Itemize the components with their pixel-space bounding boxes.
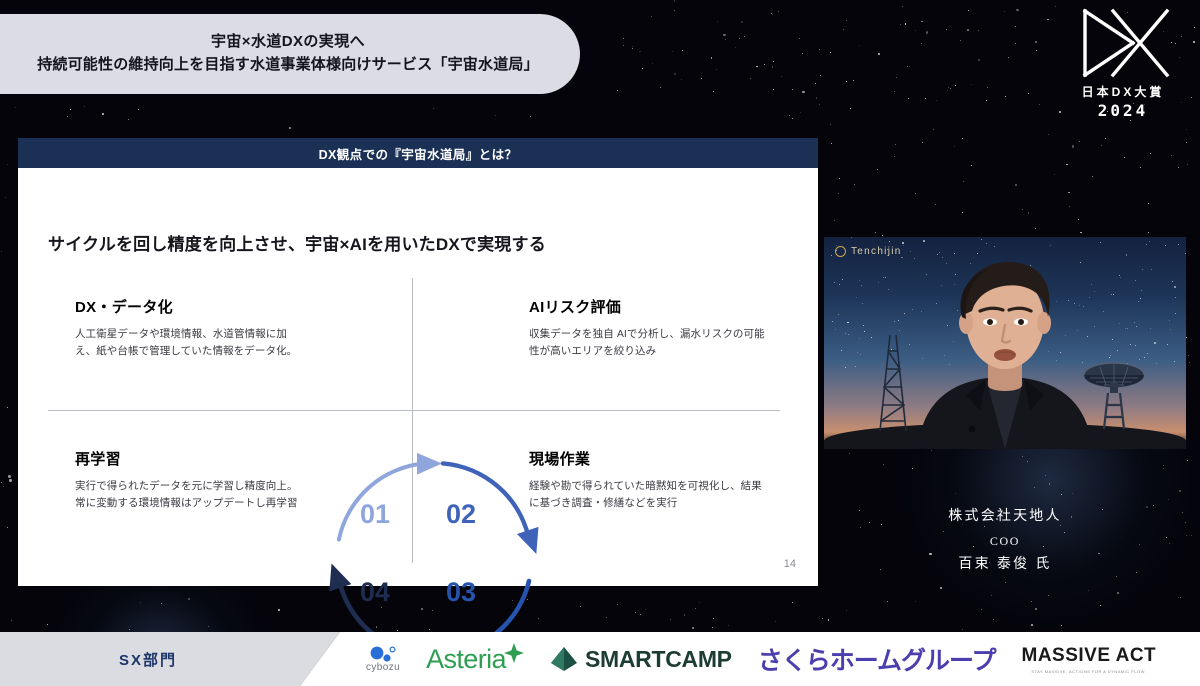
category-label: SX部門	[119, 649, 177, 670]
cycle-number-04: 04	[360, 577, 390, 608]
quadrant-02-body: 収集データを独自 AIで分析し、漏水リスクの可能性が高いエリアを絞り込み	[529, 326, 765, 360]
sponsor-logo-panel: cybozu Asteria SMARTCAMP さくらホームグループ MAS	[300, 632, 1200, 686]
quadrant-04: 再学習 実行で得られたデータを元に学習し精度向上。常に変動する環境情報はアップデ…	[75, 448, 303, 512]
asteria-wordmark: Asteria	[426, 644, 506, 675]
massive-act-tagline: STAY MASSIVE. ACTIONS FOR A DYNAMIC FLOW…	[1031, 669, 1146, 674]
tenchijin-watermark-text: Tenchijin	[851, 246, 902, 257]
sponsor-logo-massive-act: MASSIVE ACT STAY MASSIVE. ACTIONS FOR A …	[1022, 645, 1157, 674]
sponsor-logo-smartcamp: SMARTCAMP	[550, 646, 732, 673]
quadrant-03: 現場作業 経験や勘で得られていた暗黙知を可視化し、結果に基づき調査・修繕などを実…	[529, 448, 765, 512]
slide-header-bar: DX観点での『宇宙水道局』とは？	[18, 138, 818, 168]
presentation-title-banner: 宇宙×水道DXの実現へ 持続可能性の維持向上を目指す水道事業体様向けサービス「宇…	[0, 14, 580, 94]
broadcast-stage: 宇宙×水道DXの実現へ 持続可能性の維持向上を目指す水道事業体様向けサービス「宇…	[0, 0, 1200, 686]
banner-line-1: 宇宙×水道DXの実現へ	[211, 31, 365, 54]
speaker-role: COO	[824, 534, 1186, 549]
cycle-number-02: 02	[446, 499, 476, 530]
massive-act-wordmark: MASSIVE ACT	[1022, 645, 1157, 667]
cycle-number-01: 01	[360, 499, 390, 530]
category-panel: SX部門	[0, 632, 340, 686]
cybozu-mark-icon	[368, 645, 398, 663]
quadrant-01-body: 人工衛星データや環境情報、水道管情報に加え、紙や台帳で管理していた情報をデータ化…	[75, 326, 303, 360]
banner-line-2: 持続可能性の維持向上を目指す水道事業体様向けサービス「宇宙水道局」	[37, 53, 539, 77]
quadrant-02: AIリスク評価 収集データを独自 AIで分析し、漏水リスクの可能性が高いエリアを…	[529, 296, 765, 360]
speaker-name: 百束 泰俊 氏	[824, 553, 1186, 573]
quadrant-04-title: 再学習	[75, 448, 303, 469]
speaker-caption: 株式会社天地人 COO 百束 泰俊 氏	[824, 505, 1186, 573]
quadrant-02-title: AIリスク評価	[529, 296, 765, 317]
tenchijin-logo-icon	[835, 246, 846, 257]
slide-body: サイクルを回し精度を向上させ、宇宙×AIを用いたDXで実現する DX・データ化 …	[18, 168, 818, 586]
sakura-wordmark: さくらホームグループ	[758, 641, 996, 677]
quadrant-03-title: 現場作業	[529, 448, 765, 469]
award-logo-jp-text: 日本DX大賞	[1082, 83, 1165, 100]
dx-monogram-icon	[1075, 6, 1171, 80]
speaker-video-feed: Tenchijin	[824, 237, 1186, 449]
speaker-organization: 株式会社天地人	[824, 505, 1186, 525]
japan-dx-award-logo: 日本DX大賞 2024	[1064, 6, 1182, 134]
presentation-slide: DX観点での『宇宙水道局』とは？ サイクルを回し精度を向上させ、宇宙×AIを用い…	[18, 138, 818, 586]
quadrant-04-body: 実行で得られたデータを元に学習し精度向上。常に変動する環境情報はアップデートし再…	[75, 478, 303, 512]
slide-page-number: 14	[784, 558, 796, 570]
smartcamp-mark-icon	[550, 646, 578, 672]
video-speaker-person	[900, 259, 1110, 449]
quadrant-03-body: 経験や勘で得られていた暗黙知を可視化し、結果に基づき調査・修繕などを実行	[529, 478, 765, 512]
slide-lead-text: サイクルを回し精度を向上させ、宇宙×AIを用いたDXで実現する	[48, 230, 546, 255]
sponsor-logo-asteria: Asteria	[426, 644, 524, 675]
award-logo-year: 2024	[1098, 101, 1149, 120]
cycle-number-03: 03	[446, 577, 476, 608]
sponsor-bar: SX部門 cybozu Asteria	[0, 632, 1200, 686]
cybozu-wordmark: cybozu	[366, 662, 400, 673]
quadrant-01: DX・データ化 人工衛星データや環境情報、水道管情報に加え、紙や台帳で管理してい…	[75, 296, 303, 360]
sponsor-logo-cybozu: cybozu	[366, 645, 400, 673]
smartcamp-wordmark: SMARTCAMP	[585, 646, 732, 673]
asteria-sparkle-icon	[504, 643, 524, 663]
slide-header-text: DX観点での『宇宙水道局』とは？	[319, 144, 518, 163]
sponsor-logo-sakura-home-group: さくらホームグループ	[758, 641, 996, 677]
quadrant-divider-horizontal	[48, 410, 780, 411]
quadrant-01-title: DX・データ化	[75, 296, 303, 317]
tenchijin-watermark: Tenchijin	[835, 246, 902, 257]
